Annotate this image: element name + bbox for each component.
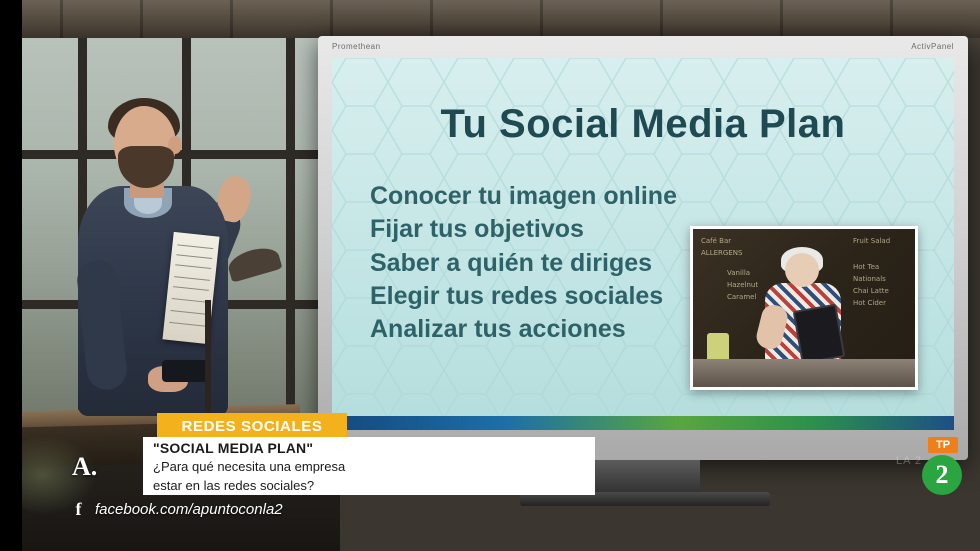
counter-surface [693, 359, 915, 387]
slide-bullet: Fijar tus objetivos [370, 213, 700, 246]
person-head [785, 253, 819, 287]
tv-stand-neck [590, 460, 700, 496]
question-line-2: estar en las redes sociales? [153, 477, 585, 496]
slide-title: Tu Social Media Plan [332, 102, 954, 147]
presenter-beard [118, 146, 174, 188]
chalkboard-text: Hot Cider [853, 299, 886, 308]
social-handle-text: facebook.com/apuntoconla2 [95, 501, 283, 518]
chalkboard-text: Vanilla [727, 269, 750, 278]
slide-bullet: Analizar tus acciones [370, 313, 700, 346]
tablet-device [793, 304, 846, 365]
whiteboard-color-strip [332, 416, 954, 430]
letterbox-left-bar [0, 0, 22, 551]
chalkboard-text: Café Bar [701, 237, 731, 246]
whiteboard-model-label: ActivPanel [911, 42, 954, 51]
slide-bullet: Conocer tu imagen online [370, 180, 700, 213]
window-mullion [286, 30, 295, 430]
slide-bullet: Saber a quién te diriges [370, 247, 700, 280]
chalkboard-text: Chai Latte [853, 287, 889, 296]
category-banner: REDES SOCIALES [157, 413, 347, 439]
chalkboard-text: Hazelnut [727, 281, 758, 290]
slide-bullet-list: Conocer tu imagen online Fijar tus objet… [370, 180, 700, 346]
chalkboard-text: Caramel [727, 293, 756, 302]
program-logo: A. [72, 452, 97, 482]
question-banner: ¿Para qué necesita una empresa estar en … [143, 455, 595, 495]
slide-bullet: Elegir tus redes sociales [370, 280, 700, 313]
chalkboard-text: Fruit Salad [853, 237, 890, 246]
chalkboard-text: ALLERGENS [701, 249, 742, 258]
topic-label: "SOCIAL MEDIA PLAN" [143, 440, 313, 456]
whiteboard-brand-label: Promethean [332, 42, 381, 51]
ceiling-beam [0, 0, 980, 38]
facebook-icon: f [70, 500, 87, 519]
broadcast-screenshot: Promethean ActivPanel Tu Social Media Pl… [0, 0, 980, 551]
chalkboard-text: Hot Tea [853, 263, 879, 272]
presenter-handheld-device [162, 360, 208, 382]
stand-pole [205, 300, 211, 420]
channel-watermark-text: LA 2 [896, 455, 922, 467]
question-line-1: ¿Para qué necesita una empresa [153, 458, 585, 477]
whiteboard-screen[interactable]: Tu Social Media Plan Conocer tu imagen o… [332, 58, 954, 416]
chalkboard-text: Nationals [853, 275, 886, 284]
channel-logo: 2 [922, 455, 962, 495]
interactive-whiteboard[interactable]: Promethean ActivPanel Tu Social Media Pl… [318, 36, 968, 460]
rating-badge: TP [928, 437, 958, 453]
category-label: REDES SOCIALES [182, 418, 323, 435]
cafe-counter-photo: Café Bar ALLERGENS Vanilla Hazelnut Cara… [690, 226, 918, 390]
social-handle-bar: f facebook.com/apuntoconla2 [70, 496, 370, 522]
